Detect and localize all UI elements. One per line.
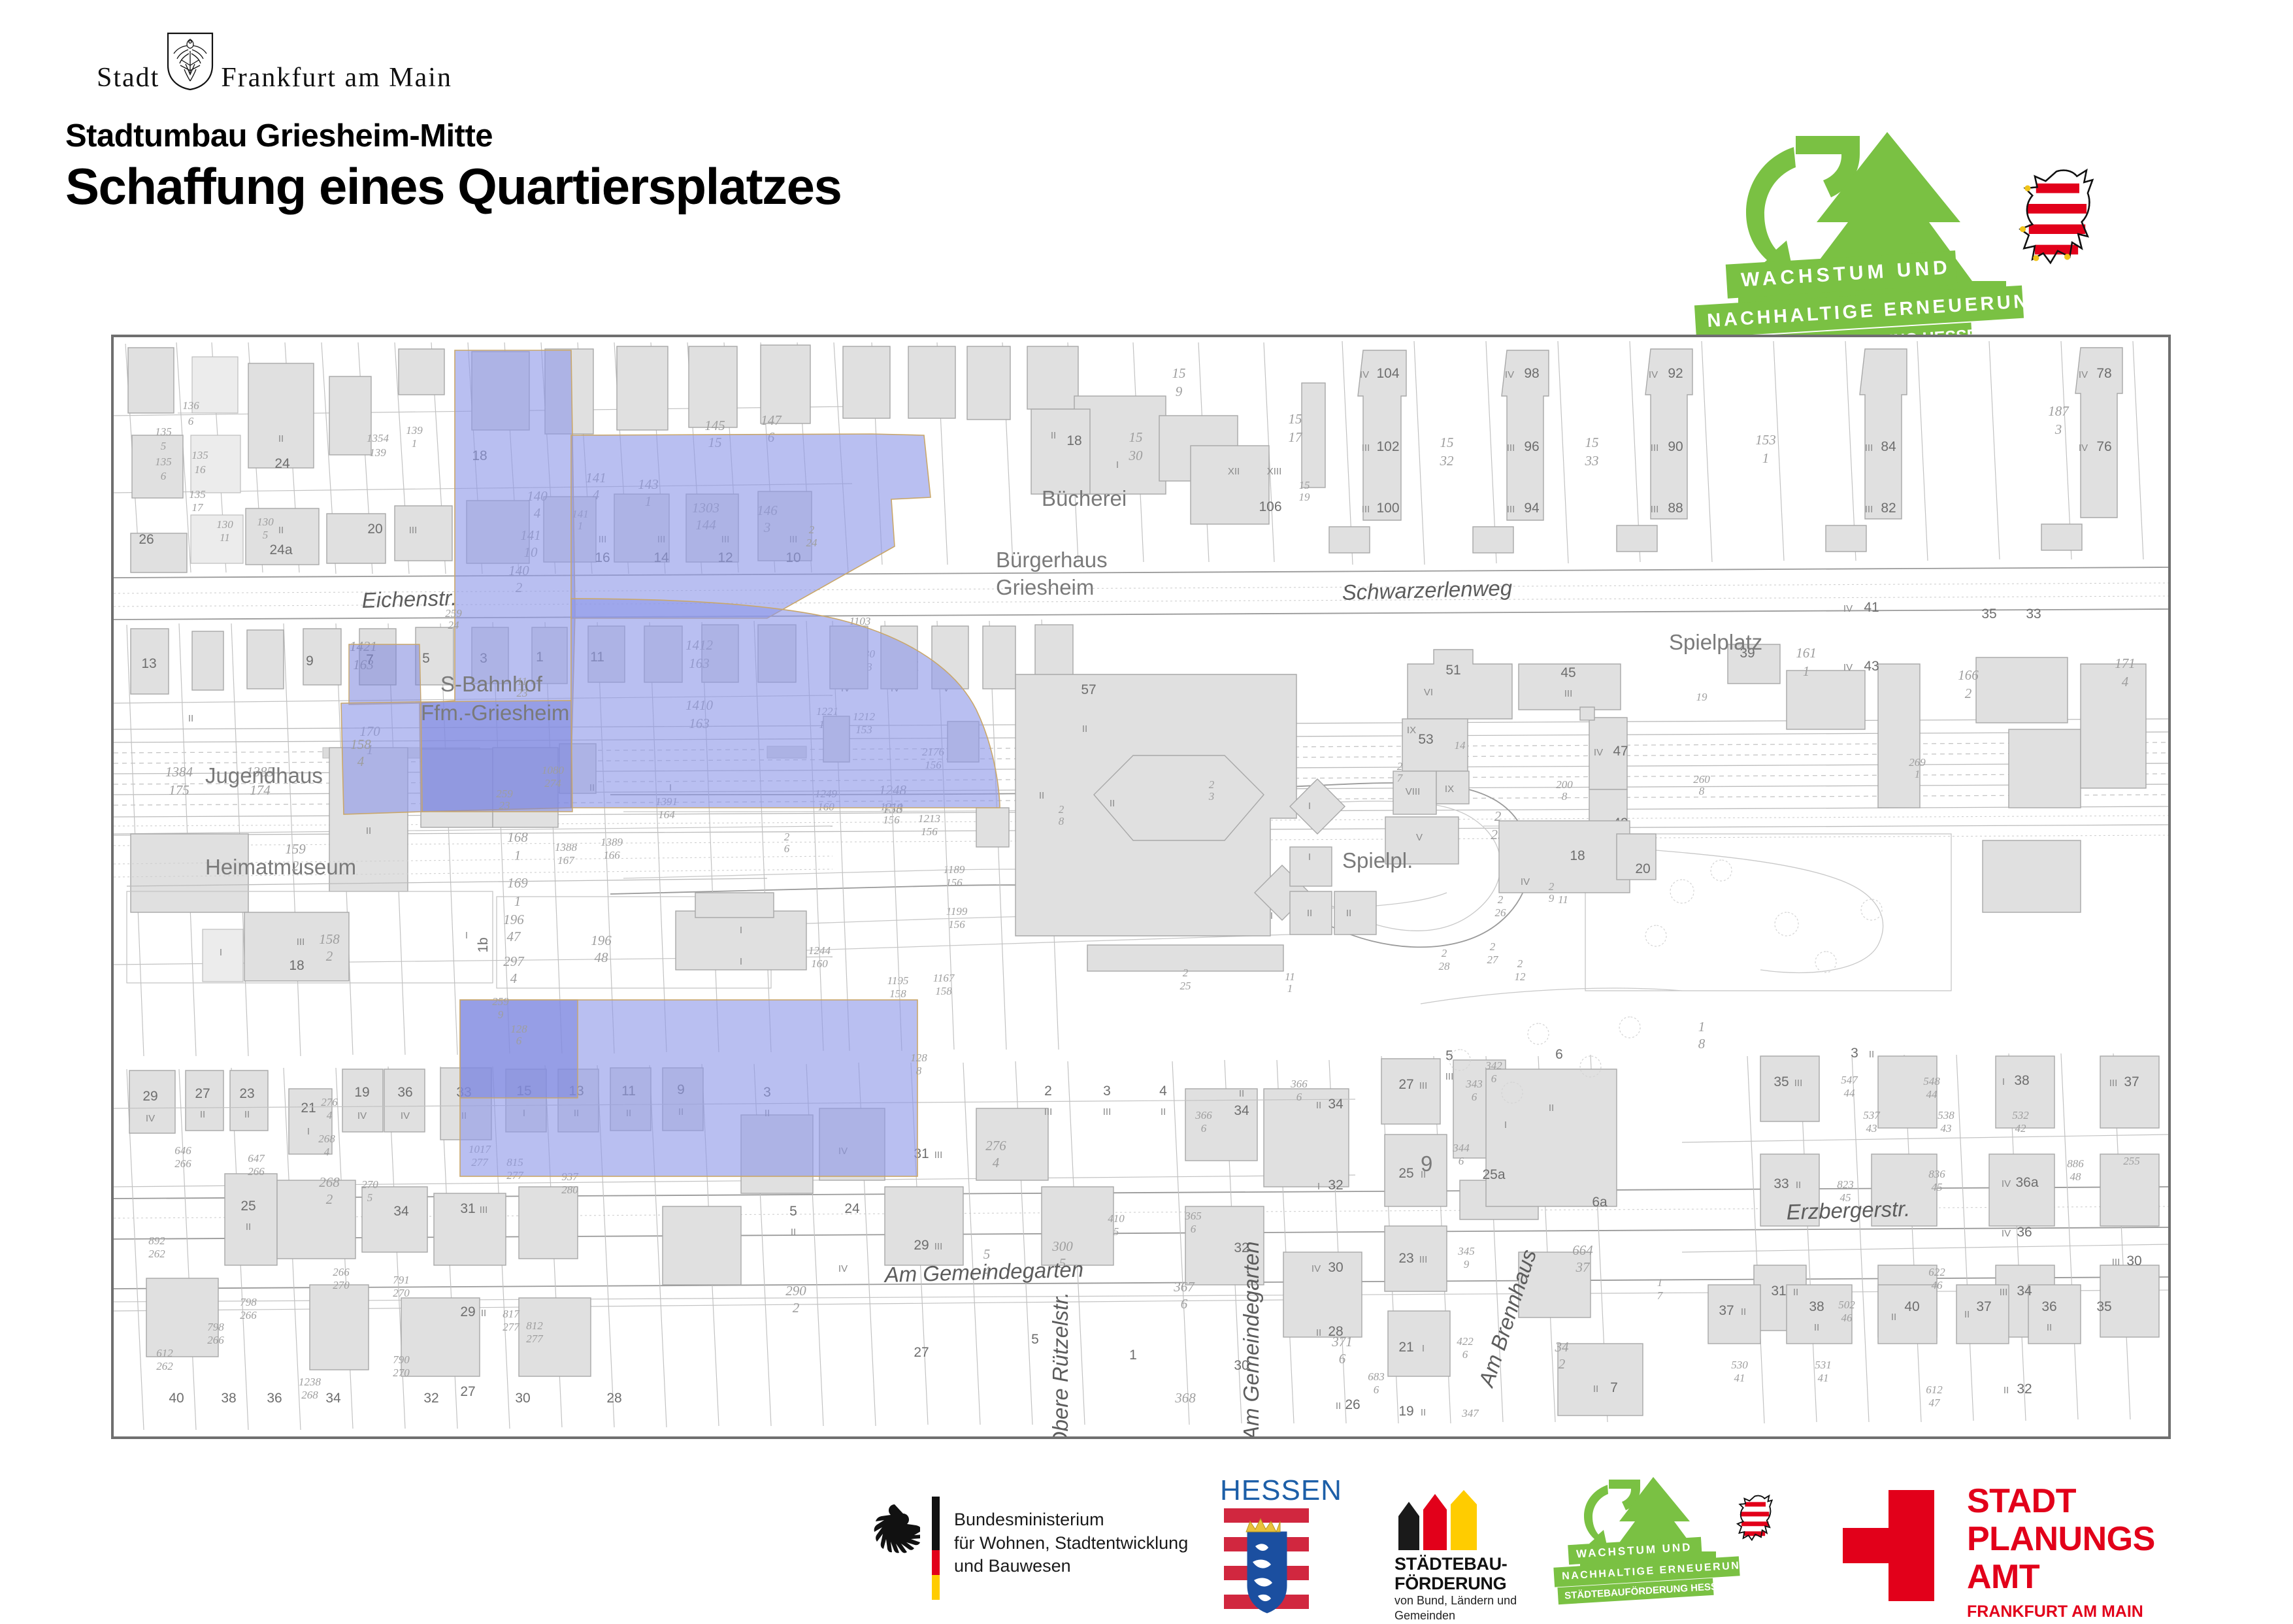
svg-text:24a: 24a (269, 542, 292, 557)
svg-text:37: 37 (1575, 1259, 1591, 1275)
svg-text:34: 34 (325, 1391, 341, 1406)
svg-text:1: 1 (1698, 1019, 1706, 1035)
frankfurt-eagle-shield-icon (166, 31, 214, 91)
svg-text:32: 32 (1440, 453, 1455, 469)
svg-text:36: 36 (397, 1085, 412, 1100)
svg-text:IV: IV (2079, 369, 2088, 380)
svg-text:II: II (1316, 1327, 1321, 1338)
svg-text:9: 9 (1421, 1152, 1432, 1176)
svg-text:2: 2 (326, 948, 333, 964)
svg-text:160: 160 (811, 957, 828, 970)
svg-text:IV: IV (1311, 1263, 1321, 1274)
place-label-spielpl: Spielpl. (1342, 848, 1413, 872)
svg-text:300: 300 (1051, 1238, 1073, 1254)
svg-text:94: 94 (1524, 501, 1540, 516)
svg-text:1: 1 (412, 437, 418, 450)
svg-text:5: 5 (367, 1191, 373, 1204)
svg-text:6: 6 (1459, 1155, 1464, 1167)
svg-text:III: III (1865, 504, 1873, 515)
svg-text:187: 187 (2048, 403, 2070, 419)
svg-text:23: 23 (499, 799, 510, 812)
svg-text:2: 2 (1498, 893, 1504, 906)
svg-text:100: 100 (1376, 501, 1399, 516)
svg-text:I: I (1116, 459, 1119, 471)
svg-text:VI: VI (1424, 687, 1433, 698)
svg-text:158: 158 (889, 987, 906, 1000)
svg-text:836: 836 (1928, 1168, 1945, 1180)
svg-text:200: 200 (1556, 778, 1573, 791)
svg-text:24: 24 (274, 456, 290, 471)
svg-text:366: 366 (1195, 1109, 1212, 1121)
svg-text:III: III (480, 1204, 488, 1216)
svg-text:11: 11 (517, 675, 527, 688)
svg-text:2: 2 (1965, 686, 1972, 701)
svg-text:280: 280 (561, 1184, 578, 1196)
svg-text:III: III (2000, 1287, 2008, 1298)
bundesadler-icon (869, 1498, 920, 1564)
svg-text:18: 18 (1570, 848, 1585, 863)
city-of-frankfurt-logo: Stadt Frankfurt am Main (97, 31, 452, 91)
place-label-heimatmuseum: Heimatmuseum (205, 855, 356, 879)
svg-text:48: 48 (595, 950, 609, 965)
svg-text:6: 6 (1462, 1348, 1468, 1361)
svg-text:171: 171 (2115, 655, 2136, 671)
svg-text:1195: 1195 (887, 974, 909, 987)
svg-text:345: 345 (1457, 1245, 1475, 1257)
svg-text:38: 38 (2014, 1073, 2029, 1088)
svg-text:IV: IV (1521, 876, 1530, 887)
svg-text:41: 41 (1864, 600, 1879, 615)
svg-text:XIII: XIII (1267, 466, 1282, 477)
logo-stadtplanungsamt: STADT PLANUNGS AMT FRANKFURT AM MAIN (1836, 1470, 2202, 1621)
hessen-coat-of-arms-icon (1224, 1508, 1309, 1623)
svg-text:158: 158 (935, 985, 952, 997)
svg-text:27: 27 (1398, 1077, 1413, 1092)
svg-text:25: 25 (1180, 980, 1191, 992)
svg-text:38: 38 (1809, 1299, 1824, 1314)
bmwsb-line-3: und Bauwesen (954, 1555, 1188, 1578)
svg-text:266: 266 (240, 1309, 257, 1321)
svg-text:269: 269 (1909, 756, 1926, 769)
svg-text:156: 156 (948, 918, 965, 931)
svg-text:11: 11 (220, 531, 230, 544)
svg-text:538: 538 (1938, 1109, 1955, 1121)
svg-text:791: 791 (393, 1274, 410, 1286)
svg-text:35: 35 (1773, 1074, 1789, 1089)
place-label-ffm-griesheim: Ffm.-Griesheim (421, 701, 569, 725)
svg-text:26: 26 (1495, 906, 1507, 919)
svg-text:I: I (307, 1126, 310, 1137)
svg-text:16: 16 (195, 463, 206, 476)
svg-text:147: 147 (761, 412, 782, 428)
svg-text:43: 43 (1866, 1122, 1877, 1135)
svg-text:88: 88 (1668, 501, 1683, 516)
svg-text:37: 37 (2124, 1074, 2139, 1089)
svg-text:135: 135 (189, 488, 206, 501)
svg-text:IV: IV (1594, 747, 1603, 758)
svg-text:XII: XII (1228, 466, 1240, 477)
svg-text:33: 33 (1585, 453, 1599, 469)
svg-text:III: III (1794, 1078, 1803, 1089)
poster-header: Stadt Frankfurt am Main Stadt (0, 0, 2293, 307)
svg-text:6: 6 (1201, 1122, 1207, 1135)
svg-text:683: 683 (1368, 1370, 1385, 1383)
svg-text:6: 6 (1374, 1384, 1379, 1396)
svg-text:5: 5 (161, 440, 167, 452)
buildings-far-east-mid (1728, 644, 2146, 912)
svg-text:II: II (1891, 1312, 1896, 1323)
svg-text:270: 270 (333, 1279, 350, 1291)
svg-text:290: 290 (785, 1283, 806, 1299)
map-canvas[interactable]: 1366 24 24a 26 1355 1356 13516 13517 130… (114, 337, 2168, 1436)
svg-text:1389: 1389 (601, 836, 623, 848)
svg-text:886: 886 (2067, 1157, 2084, 1170)
svg-text:31: 31 (460, 1201, 475, 1216)
svg-text:II: II (1051, 430, 1056, 441)
svg-text:342: 342 (1485, 1059, 1502, 1072)
svg-text:II: II (481, 1308, 486, 1319)
svg-text:24: 24 (806, 537, 818, 549)
svg-text:II: II (1549, 1102, 1554, 1114)
logo-staedtebaufoerderung: STÄDTEBAU- FÖRDERUNG von Bund, Ländern u… (1379, 1470, 1562, 1621)
svg-text:VIII: VIII (1406, 786, 1421, 797)
svg-text:IV: IV (146, 1113, 155, 1124)
buildings-se (1381, 1059, 1643, 1416)
svg-text:47: 47 (507, 929, 522, 944)
svg-text:34: 34 (1328, 1097, 1344, 1112)
svg-text:11: 11 (1285, 970, 1295, 983)
svg-text:II: II (1110, 798, 1115, 809)
svg-text:347: 347 (1461, 1407, 1479, 1419)
place-label-spielplatz: Spielplatz (1669, 630, 1762, 654)
svg-text:I: I (220, 947, 222, 958)
svg-text:24: 24 (844, 1201, 860, 1216)
svg-text:90: 90 (1668, 439, 1683, 454)
svg-text:30: 30 (1328, 1260, 1343, 1275)
svg-text:8: 8 (1698, 1036, 1706, 1052)
svg-text:20: 20 (367, 522, 382, 537)
svg-text:III: III (934, 1241, 943, 1252)
svg-text:11: 11 (1558, 893, 1568, 906)
svg-text:23: 23 (517, 687, 528, 699)
svg-text:III: III (1419, 1080, 1428, 1091)
spa-line-3: AMT (1967, 1558, 2155, 1596)
svg-text:II: II (2047, 1322, 2052, 1333)
svg-text:6: 6 (1181, 1296, 1188, 1312)
svg-text:5: 5 (1114, 1225, 1119, 1238)
svg-text:26: 26 (1345, 1397, 1360, 1412)
svg-text:7: 7 (1610, 1380, 1618, 1395)
hessen-label: HESSEN (1220, 1474, 1342, 1507)
svg-text:532: 532 (2012, 1109, 2029, 1121)
svg-text:145: 145 (704, 418, 725, 433)
svg-text:1: 1 (1762, 450, 1770, 466)
place-label-buecherei: Bücherei (1042, 486, 1127, 510)
svg-text:I: I (1308, 801, 1311, 812)
logo-wachstum-erneuerung-small: WACHSTUM UND NACHHALTIGE ERNEUERUNG STÄD… (1568, 1470, 1830, 1621)
svg-text:53: 53 (1418, 732, 1433, 747)
svg-text:196: 196 (591, 933, 612, 948)
place-label-jugendhaus: Jugendhaus (205, 763, 323, 787)
svg-text:9: 9 (1464, 1258, 1470, 1270)
svg-text:104: 104 (1376, 366, 1399, 381)
map-labels-ne: 104IV 102III 100III 98IV 96III 94III 92I… (1360, 366, 2112, 516)
svg-text:4: 4 (357, 754, 365, 769)
svg-text:30: 30 (515, 1391, 530, 1406)
svg-text:159: 159 (285, 841, 306, 857)
svg-text:28: 28 (1328, 1324, 1343, 1339)
svg-text:343: 343 (1465, 1078, 1483, 1090)
svg-text:36: 36 (267, 1391, 282, 1406)
svg-text:IV: IV (357, 1110, 367, 1121)
svg-text:6: 6 (1191, 1223, 1196, 1235)
svg-text:12: 12 (1515, 970, 1526, 983)
svg-text:156: 156 (921, 825, 938, 838)
svg-text:44: 44 (1844, 1087, 1856, 1099)
svg-text:276: 276 (985, 1138, 1006, 1153)
svg-text:266: 266 (248, 1165, 265, 1178)
svg-text:23: 23 (1398, 1251, 1413, 1266)
logo-bundesministerium: Bundesministerium für Wohnen, Stadtentwi… (869, 1470, 1209, 1621)
svg-text:I: I (1317, 1181, 1320, 1192)
svg-text:5: 5 (1031, 1332, 1039, 1347)
svg-text:1: 1 (514, 848, 521, 863)
svg-text:1: 1 (514, 893, 521, 909)
svg-text:II: II (1796, 1180, 1801, 1191)
svg-text:161: 161 (1796, 645, 1817, 661)
svg-text:92: 92 (1668, 366, 1683, 381)
svg-text:502: 502 (1838, 1299, 1855, 1311)
svg-text:II: II (1346, 908, 1351, 919)
svg-text:268: 268 (301, 1389, 318, 1401)
svg-text:IX: IX (1407, 725, 1416, 736)
svg-text:8: 8 (1562, 790, 1568, 803)
svg-text:1354: 1354 (367, 432, 389, 444)
svg-text:III: III (1507, 442, 1515, 454)
svg-text:98: 98 (1524, 366, 1539, 381)
svg-text:6: 6 (1491, 1072, 1497, 1085)
svg-text:2: 2 (1490, 940, 1496, 953)
street-label-am-gemeindegarten-h: Am Gemeindegarten (883, 1257, 1083, 1287)
svg-text:III: III (2112, 1257, 2120, 1268)
svg-text:IV: IV (401, 1110, 410, 1121)
svg-text:25: 25 (1398, 1166, 1413, 1181)
logo-hessen: HESSEN (1219, 1470, 1330, 1621)
cadastral-map[interactable]: 1366 24 24a 26 1355 1356 13516 13517 130… (111, 335, 2171, 1439)
svg-text:268: 268 (318, 1133, 335, 1145)
stb-line-2: FÖRDERUNG (1394, 1574, 1508, 1593)
svg-text:32: 32 (1328, 1178, 1343, 1193)
svg-text:9: 9 (498, 1008, 504, 1021)
svg-text:76: 76 (2096, 439, 2111, 454)
svg-text:153: 153 (1755, 432, 1776, 448)
svg-text:17: 17 (1289, 429, 1304, 445)
svg-text:4: 4 (1159, 1084, 1167, 1099)
svg-text:1244: 1244 (808, 944, 831, 957)
svg-text:II: II (791, 1227, 796, 1238)
svg-text:8: 8 (916, 1065, 922, 1077)
svg-text:24: 24 (448, 619, 460, 631)
svg-text:255: 255 (2123, 1155, 2140, 1167)
svg-text:78: 78 (2096, 366, 2111, 381)
street-label-schwarzerlenweg: Schwarzerlenweg (1342, 576, 1513, 605)
svg-text:817: 817 (503, 1308, 520, 1320)
svg-text:422: 422 (1457, 1335, 1474, 1348)
svg-text:IV: IV (838, 1263, 848, 1274)
svg-text:31: 31 (1771, 1284, 1786, 1299)
svg-text:96: 96 (1524, 439, 1539, 454)
svg-text:I: I (1504, 1119, 1507, 1131)
quartiersplatz-highlight (341, 350, 1000, 1176)
svg-text:18: 18 (1066, 433, 1081, 448)
svg-text:1213: 1213 (918, 812, 940, 825)
svg-text:II: II (366, 825, 371, 837)
svg-text:106: 106 (1259, 499, 1281, 514)
svg-text:V: V (1416, 832, 1423, 843)
svg-text:367: 367 (1173, 1279, 1195, 1295)
svg-text:1: 1 (1803, 663, 1810, 679)
svg-text:42: 42 (2015, 1122, 2027, 1135)
svg-text:28: 28 (1439, 960, 1451, 972)
svg-text:262: 262 (156, 1360, 173, 1372)
svg-text:3: 3 (2054, 422, 2062, 437)
svg-text:156: 156 (883, 814, 900, 826)
svg-text:130: 130 (257, 516, 274, 528)
svg-text:1238: 1238 (299, 1376, 322, 1388)
svg-text:26: 26 (139, 532, 154, 547)
svg-text:664: 664 (1572, 1242, 1593, 1258)
svg-text:II: II (1336, 1400, 1341, 1412)
street-label-am-gemeindegarten-v: Am Gemeindegarten (1239, 1242, 1263, 1437)
place-label-buergerhaus: Bürgerhaus (996, 548, 1108, 572)
svg-text:366: 366 (1290, 1078, 1308, 1090)
svg-text:1384: 1384 (165, 764, 193, 780)
svg-text:37: 37 (1976, 1299, 1991, 1314)
svg-text:266: 266 (207, 1334, 224, 1346)
svg-text:612: 612 (1926, 1384, 1943, 1396)
svg-text:35: 35 (2096, 1299, 2111, 1314)
svg-text:36a: 36a (2015, 1175, 2038, 1190)
place-label-griesheim: Griesheim (996, 575, 1094, 599)
svg-text:1b: 1b (476, 937, 491, 952)
svg-text:3: 3 (1851, 1046, 1858, 1061)
svg-text:I: I (740, 925, 742, 936)
svg-text:19: 19 (1398, 1404, 1413, 1419)
svg-text:169: 169 (507, 875, 528, 891)
svg-text:2: 2 (1517, 957, 1523, 970)
svg-text:6a: 6a (1592, 1195, 1608, 1210)
parcel-lines-ne (1342, 341, 2143, 565)
street-label-erzbergerstr: Erzbergerstr. (1786, 1197, 1910, 1224)
svg-text:646: 646 (174, 1144, 191, 1157)
street-label-eichenstr: Eichenstr. (361, 586, 457, 612)
svg-text:37: 37 (1719, 1303, 1734, 1318)
svg-text:1: 1 (1129, 1348, 1137, 1363)
svg-text:32: 32 (2017, 1382, 2032, 1397)
svg-text:6: 6 (516, 1035, 522, 1047)
buildings-ne (1329, 348, 2122, 553)
svg-text:47: 47 (1613, 744, 1628, 759)
svg-text:20: 20 (1635, 861, 1650, 876)
svg-text:II: II (1593, 1384, 1598, 1395)
svg-text:266: 266 (174, 1157, 191, 1170)
svg-text:259: 259 (492, 995, 509, 1008)
svg-text:82: 82 (1881, 501, 1896, 516)
svg-text:798: 798 (240, 1296, 257, 1308)
bmwsb-line-1: Bundesministerium (954, 1508, 1188, 1532)
svg-text:III: III (1044, 1106, 1053, 1118)
svg-text:34: 34 (393, 1204, 409, 1219)
svg-text:168: 168 (507, 829, 528, 845)
svg-text:270: 270 (393, 1287, 410, 1299)
svg-text:III: III (1103, 1106, 1112, 1118)
svg-text:196: 196 (503, 912, 524, 927)
svg-text:32: 32 (423, 1391, 438, 1406)
svg-text:II: II (1161, 1106, 1166, 1118)
svg-text:46: 46 (1932, 1279, 1943, 1291)
svg-text:III: III (1362, 504, 1370, 515)
svg-text:6: 6 (161, 470, 167, 482)
svg-text:II: II (1869, 1049, 1874, 1060)
svg-text:51: 51 (1445, 663, 1460, 678)
map-vector-layer: 1366 24 24a 26 1355 1356 13516 13517 130… (114, 337, 2168, 1436)
svg-text:277: 277 (526, 1333, 544, 1345)
svg-text:530: 530 (1731, 1359, 1748, 1371)
three-houses-icon (1394, 1490, 1486, 1553)
svg-text:158: 158 (350, 737, 371, 752)
funding-logos-footer: Bundesministerium für Wohnen, Stadtentwi… (0, 1470, 2293, 1621)
svg-text:167: 167 (557, 854, 575, 867)
svg-text:27: 27 (195, 1086, 210, 1101)
svg-text:III: III (1865, 442, 1873, 454)
svg-text:III: III (1445, 1071, 1454, 1082)
svg-text:33: 33 (1773, 1176, 1789, 1191)
svg-text:I: I (1270, 910, 1273, 921)
svg-text:1167: 1167 (933, 972, 955, 984)
svg-text:1: 1 (1915, 768, 1921, 780)
svg-text:46: 46 (1841, 1312, 1853, 1324)
svg-text:297: 297 (503, 953, 525, 969)
svg-text:II: II (1239, 1088, 1244, 1099)
svg-text:41: 41 (1818, 1372, 1829, 1384)
city-logo-word-stadt: Stadt (97, 64, 159, 91)
svg-text:128: 128 (910, 1052, 927, 1064)
svg-text:II: II (1741, 1306, 1746, 1317)
svg-text:790: 790 (393, 1353, 410, 1366)
svg-text:135: 135 (191, 449, 208, 461)
svg-text:8: 8 (1699, 785, 1705, 797)
svg-text:622: 622 (1928, 1266, 1945, 1278)
svg-text:5: 5 (263, 529, 269, 541)
svg-text:2: 2 (1044, 1084, 1052, 1099)
svg-text:I: I (1422, 1343, 1425, 1354)
svg-text:2: 2 (292, 858, 299, 874)
svg-text:30: 30 (1129, 448, 1144, 463)
svg-text:I: I (740, 956, 742, 967)
svg-text:43: 43 (1864, 659, 1879, 674)
spa-line-2: PLANUNGS (1967, 1520, 2155, 1558)
svg-text:5: 5 (422, 651, 430, 666)
svg-text:7: 7 (1657, 1289, 1664, 1302)
svg-text:260: 260 (1693, 773, 1710, 786)
svg-text:18: 18 (289, 958, 304, 973)
svg-text:27: 27 (914, 1345, 929, 1360)
svg-text:136: 136 (182, 399, 199, 412)
svg-text:135: 135 (155, 425, 172, 438)
svg-text:164: 164 (658, 808, 675, 821)
svg-text:21: 21 (301, 1101, 316, 1116)
svg-text:2: 2 (1059, 803, 1064, 816)
